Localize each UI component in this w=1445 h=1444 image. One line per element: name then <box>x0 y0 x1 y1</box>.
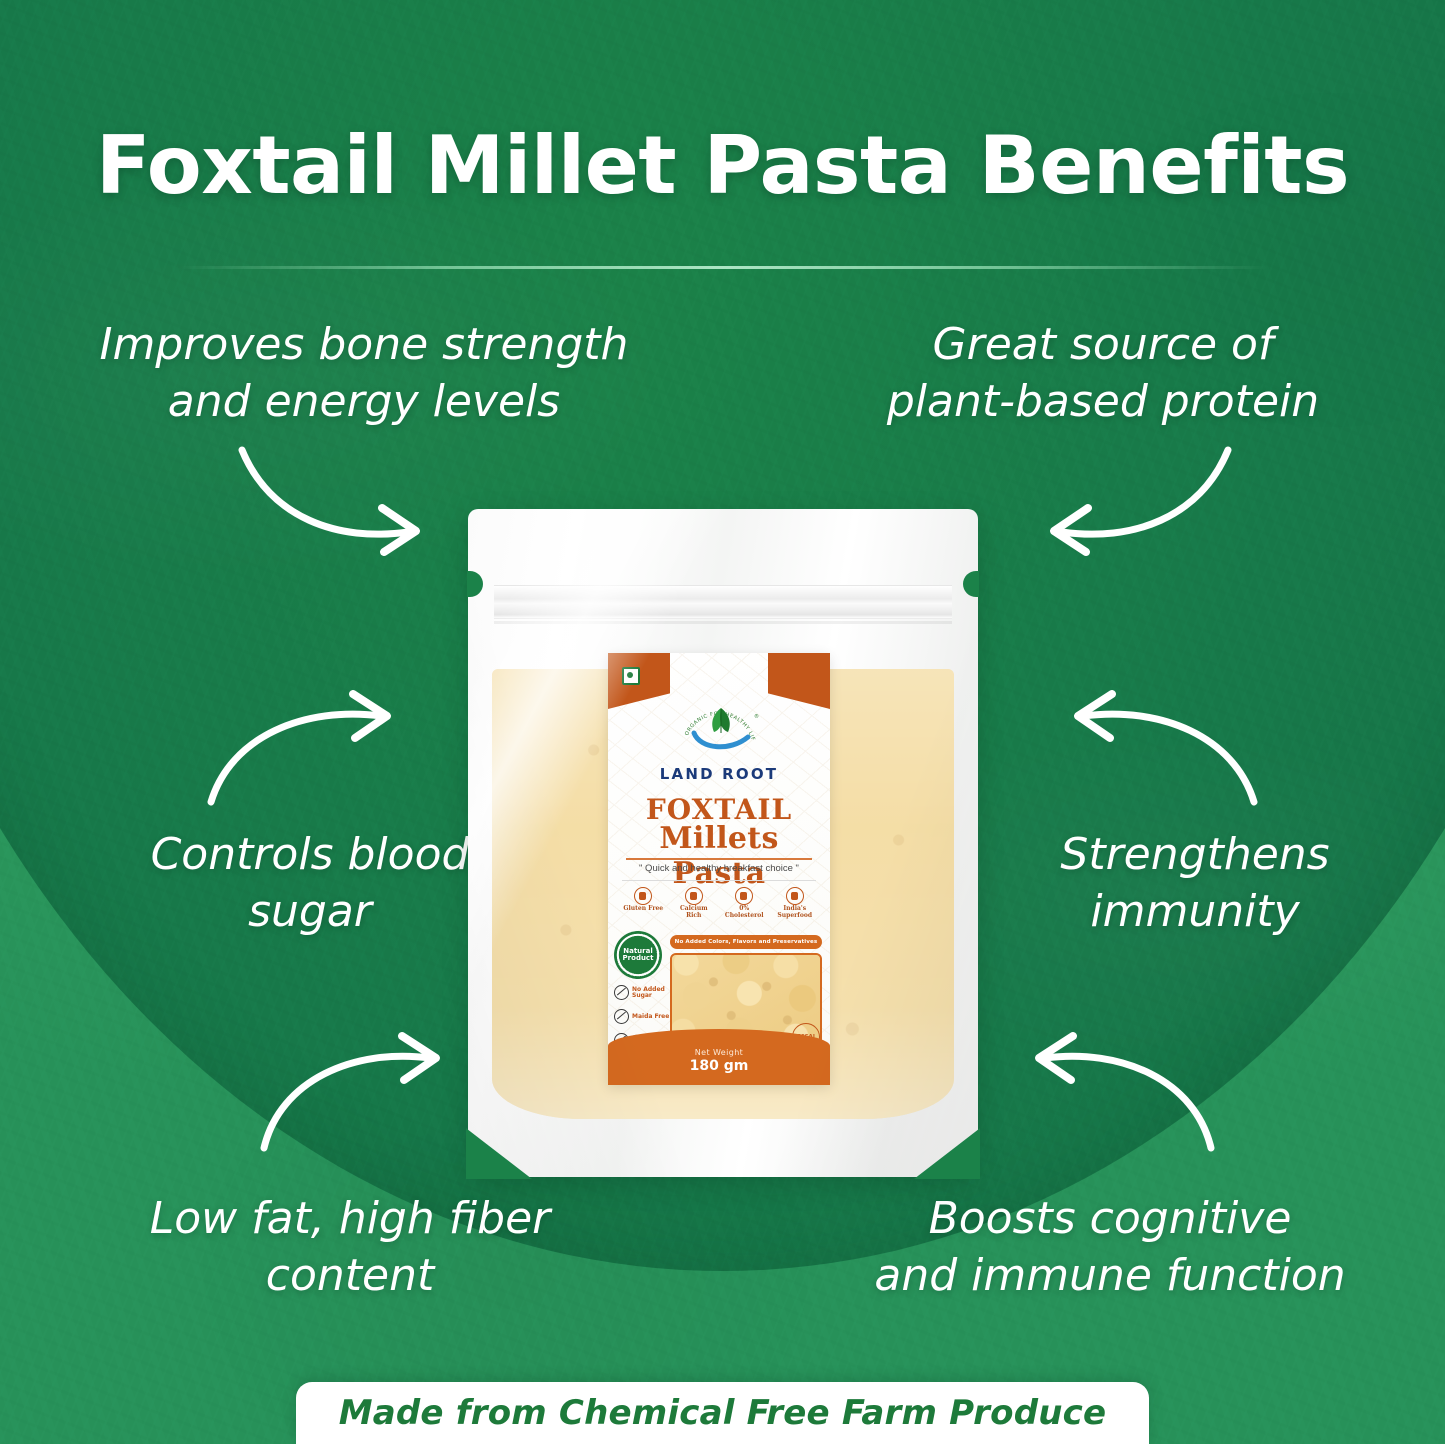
tagline-divider <box>622 880 816 881</box>
curved-arrow-icon-bottom-right <box>1010 1030 1225 1160</box>
benefit-label-immunity: Strengthens immunity <box>960 826 1430 940</box>
cholesterol-icon <box>735 887 753 905</box>
claim-label: No Added Sugar <box>632 987 672 999</box>
svg-text:NATURAL . HYGIENIC AND FRESH .: NATURAL . HYGIENIC AND FRESH . NO CHEMIC… <box>616 933 660 977</box>
curved-arrow-icon-top-right <box>1010 432 1240 562</box>
brand-name: LAND ROOT <box>608 765 830 783</box>
net-weight-value: 180 gm <box>690 1058 749 1074</box>
benefit-label-low-fat-fiber: Low fat, high fiber content <box>110 1190 590 1304</box>
claim-no-added-sugar: No Added Sugar <box>614 985 672 1000</box>
pouch-body: ORGANIC FOR HEALTHY LIFE ® <box>468 509 978 1177</box>
superfood-icon <box>786 887 804 905</box>
benefit-label-bone-strength: Improves bone strength and energy levels <box>54 316 674 430</box>
page-title: Foxtail Millet Pasta Benefits <box>0 126 1445 206</box>
claim-maida-free: Maida Free <box>614 1009 672 1024</box>
no-additives-ribbon: No Added Colors, Flavors and Preservativ… <box>670 935 822 949</box>
gluten-free-icon <box>634 887 652 905</box>
title-divider <box>178 266 1268 269</box>
feature-calcium-rich: Calcium Rich <box>672 887 716 920</box>
infographic-canvas: Foxtail Millet Pasta Benefits Improves b… <box>0 0 1445 1444</box>
no-maida-icon <box>614 1009 629 1024</box>
svg-text:®: ® <box>754 713 759 720</box>
footer-banner-text: Made from Chemical Free Farm Produce <box>339 1393 1107 1433</box>
feature-label: Gluten Free <box>621 906 665 913</box>
feature-gluten-free: Gluten Free <box>621 887 665 920</box>
benefit-label-plant-protein: Great source of plant-based protein <box>838 316 1368 430</box>
feature-icon-row: Gluten Free Calcium Rich 0% Cholesterol … <box>618 887 820 920</box>
feature-superfood: India's Superfood <box>773 887 817 920</box>
zip-lock-line <box>494 621 952 624</box>
feature-label: Calcium Rich <box>672 906 716 920</box>
no-sugar-icon <box>614 985 629 1000</box>
ribbon-text: No Added Colors, Flavors and Preservativ… <box>675 939 818 945</box>
calcium-icon <box>685 887 703 905</box>
brand-block: ORGANIC FOR HEALTHY LIFE ® <box>608 701 830 783</box>
product-package: ORGANIC FOR HEALTHY LIFE ® <box>468 509 978 1177</box>
brand-logo: ORGANIC FOR HEALTHY LIFE ® <box>676 701 762 759</box>
net-weight-band: Net Weight 180 gm <box>608 1029 830 1085</box>
water-swoosh-icon <box>690 725 752 753</box>
product-tagline: " Quick and healthy breakfast choice " <box>608 863 830 874</box>
net-weight-label: Net Weight <box>695 1048 743 1057</box>
curved-arrow-icon-mid-left <box>195 690 420 815</box>
claim-label: Maida Free <box>632 1014 669 1020</box>
vegetarian-mark-icon <box>622 667 640 685</box>
seal-ring-text: NATURAL . HYGIENIC AND FRESH . NO CHEMIC… <box>614 931 662 979</box>
feature-label: 0% Cholesterol <box>722 906 766 920</box>
curved-arrow-icon-mid-right <box>1045 690 1270 815</box>
product-label: ORGANIC FOR HEALTHY LIFE ® <box>608 653 830 1085</box>
benefit-label-cognitive: Boosts cognitive and immune function <box>850 1190 1370 1304</box>
feature-label: India's Superfood <box>773 906 817 920</box>
product-name-divider <box>626 858 812 860</box>
curved-arrow-icon-top-left <box>230 432 460 562</box>
natural-product-seal: NATURAL . HYGIENIC AND FRESH . NO CHEMIC… <box>614 931 662 979</box>
footer-banner: Made from Chemical Free Farm Produce <box>296 1382 1149 1444</box>
zip-lock-seal <box>494 585 952 619</box>
feature-cholesterol: 0% Cholesterol <box>722 887 766 920</box>
curved-arrow-icon-bottom-left <box>250 1030 465 1160</box>
